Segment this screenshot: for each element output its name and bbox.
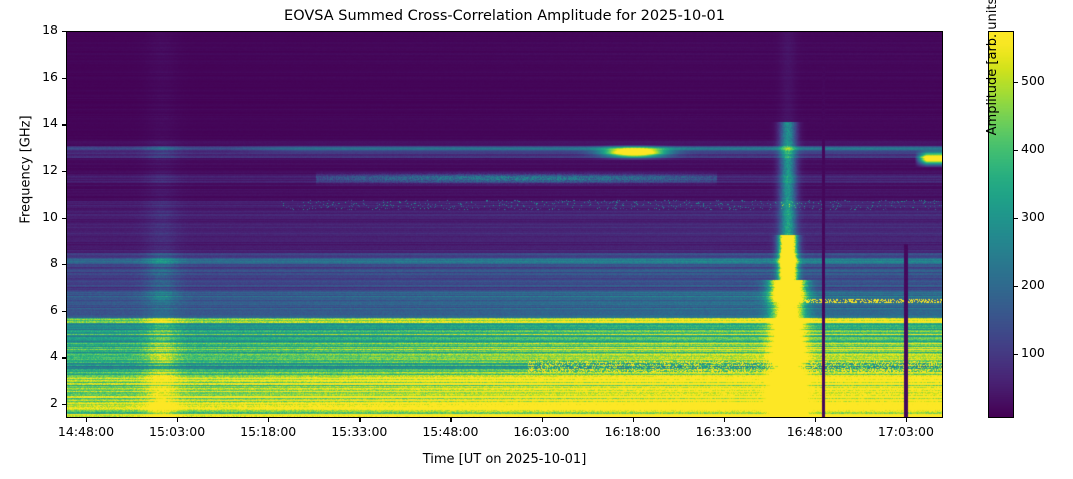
y-tick-12: 12 (0, 171, 66, 172)
x-tick-label: 17:03:00 (878, 424, 934, 439)
y-tick-16: 16 (0, 78, 66, 79)
page-title: EOVSA Summed Cross-Correlation Amplitude… (66, 6, 943, 26)
y-tick-6: 6 (0, 311, 66, 312)
dynamic-spectrum-axes[interactable] (66, 31, 943, 418)
y-tick-mark (62, 171, 66, 172)
x-axis-label: Time [UT on 2025-10-01] (66, 452, 943, 467)
x-tick-mark (542, 418, 543, 422)
y-tick-label: 6 (50, 302, 58, 317)
y-tick-label: 16 (42, 69, 58, 84)
y-tick-mark (62, 218, 66, 219)
y-tick-label: 2 (50, 395, 58, 410)
y-tick-label: 14 (42, 115, 58, 130)
colorbar-label: Amplitude [arb. units] (985, 0, 1000, 164)
x-tick-label: 16:18:00 (605, 424, 661, 439)
y-tick-mark (62, 311, 66, 312)
y-axis-label: Frequency [GHz] (19, 100, 34, 240)
y-tick-mark (62, 78, 66, 79)
y-tick-18: 18 (0, 31, 66, 32)
colorbar-tick-mark (1014, 150, 1018, 151)
y-tick-mark (62, 264, 66, 265)
x-tick-mark (815, 418, 816, 422)
colorbar-tick-mark (1014, 218, 1018, 219)
figure-canvas: EOVSA Summed Cross-Correlation Amplitude… (0, 0, 1073, 479)
x-tick-label: 15:48:00 (422, 424, 478, 439)
y-tick-mark (62, 31, 66, 32)
colorbar-tick-label: 200 (1021, 277, 1045, 292)
x-tick-mark (450, 418, 451, 422)
y-tick-10: 10 (0, 218, 66, 219)
colorbar-tick-label: 100 (1021, 345, 1045, 360)
x-tick-mark (633, 418, 634, 422)
y-tick-label: 4 (50, 348, 58, 363)
colorbar-tick-label: 400 (1021, 141, 1045, 156)
x-tick-mark (906, 418, 907, 422)
x-tick-label: 14:48:00 (58, 424, 114, 439)
colorbar-tick-mark (1014, 82, 1018, 83)
colorbar-tick-mark (1014, 354, 1018, 355)
colorbar-tick-label: 500 (1021, 73, 1045, 88)
y-tick-2: 2 (0, 404, 66, 405)
x-tick-mark (177, 418, 178, 422)
y-tick-8: 8 (0, 264, 66, 265)
y-tick-label: 18 (42, 22, 58, 37)
y-tick-label: 12 (42, 162, 58, 177)
y-tick-mark (62, 124, 66, 125)
y-tick-label: 10 (42, 209, 58, 224)
x-tick-mark (724, 418, 725, 422)
x-tick-label: 15:18:00 (240, 424, 296, 439)
x-tick-label: 16:48:00 (787, 424, 843, 439)
spectrogram-image[interactable] (67, 32, 942, 417)
x-tick-label: 16:33:00 (696, 424, 752, 439)
y-tick-label: 8 (50, 255, 58, 270)
x-tick-mark (268, 418, 269, 422)
y-tick-mark (62, 404, 66, 405)
x-tick-label: 16:03:00 (513, 424, 569, 439)
colorbar-tick-label: 300 (1021, 209, 1045, 224)
colorbar-tick-mark (1014, 286, 1018, 287)
y-tick-14: 14 (0, 124, 66, 125)
y-tick-mark (62, 357, 66, 358)
x-tick-mark (359, 418, 360, 422)
x-tick-label: 15:33:00 (331, 424, 387, 439)
x-tick-mark (86, 418, 87, 422)
y-tick-4: 4 (0, 357, 66, 358)
x-tick-label: 15:03:00 (149, 424, 205, 439)
